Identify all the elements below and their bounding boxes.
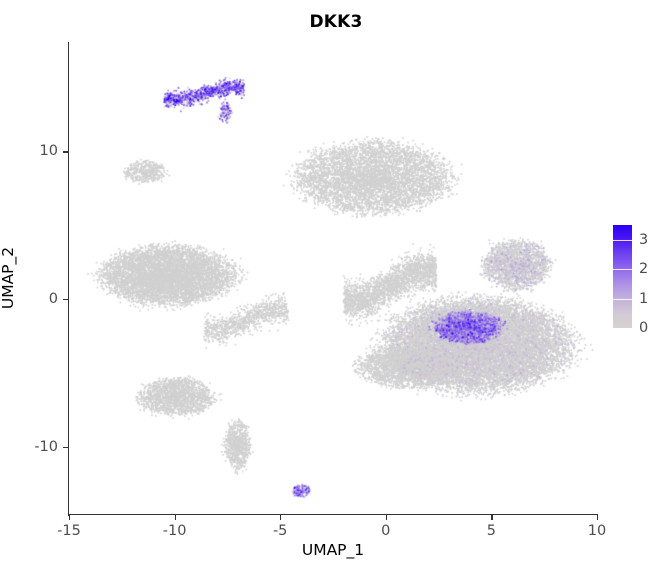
- colorbar-tick-label: 2: [639, 261, 648, 277]
- colorbar-tick-mark: [613, 269, 632, 270]
- scatter-panel: [69, 42, 597, 515]
- colorbar-tick-label: 3: [639, 232, 648, 248]
- y-tick-mark: [63, 447, 68, 448]
- x-tick-mark: [386, 515, 387, 520]
- x-axis-line: [68, 514, 598, 515]
- y-axis-title: UMAP_2: [0, 247, 17, 309]
- colorbar-tick-mark: [613, 240, 632, 241]
- x-tick-label: 5: [487, 523, 496, 539]
- y-tick-label: 0: [49, 291, 58, 307]
- scatter-points-canvas: [69, 42, 597, 515]
- y-axis-line: [68, 42, 69, 516]
- x-tick-label: -10: [163, 523, 187, 539]
- x-tick-mark: [69, 515, 70, 520]
- colorbar-tick-mark: [613, 299, 632, 300]
- umap-feature-plot: DKK3 -15-10-50510 -10010 UMAP_1 UMAP_2 0…: [0, 0, 672, 576]
- y-tick-mark: [63, 299, 68, 300]
- x-tick-label: -15: [57, 523, 81, 539]
- x-tick-mark: [597, 515, 598, 520]
- colorbar-tick-label: 1: [639, 291, 648, 307]
- x-tick-mark: [491, 515, 492, 520]
- expression-colorbar-legend: 0123: [608, 218, 668, 343]
- x-tick-mark: [280, 515, 281, 520]
- plot-title: DKK3: [0, 12, 672, 32]
- x-tick-label: 10: [588, 523, 606, 539]
- y-tick-label: 10: [40, 143, 58, 159]
- y-tick-label: -10: [34, 439, 58, 455]
- colorbar-tick-label: 0: [639, 320, 648, 336]
- x-axis-title: UMAP_1: [69, 541, 597, 559]
- x-tick-mark: [175, 515, 176, 520]
- y-tick-mark: [63, 151, 68, 152]
- x-tick-label: 0: [381, 523, 390, 539]
- x-tick-label: -5: [273, 523, 287, 539]
